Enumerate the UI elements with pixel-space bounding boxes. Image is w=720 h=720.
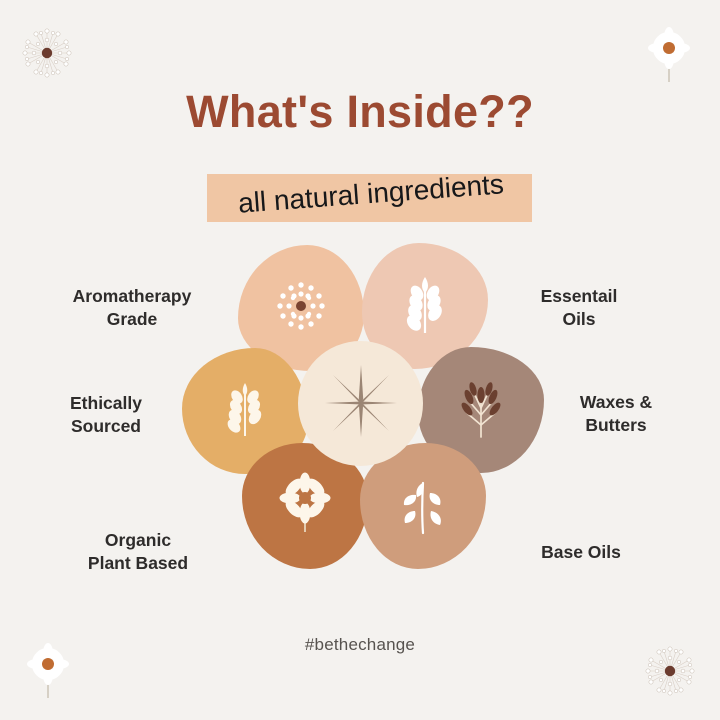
- daisy-flower-icon: [276, 472, 334, 541]
- page-title: What's Inside??: [0, 86, 720, 138]
- subtitle-banner: all natural ingredients: [207, 174, 532, 222]
- flower-diagram: [180, 243, 540, 573]
- wheat-sprig-icon: [399, 273, 451, 340]
- lavender-sprig-icon: [453, 375, 509, 446]
- dandelion-seedhead-icon: [274, 279, 328, 338]
- hashtag-text: #bethechange: [0, 635, 720, 655]
- label-ethically-sourced: Ethically Sourced: [20, 392, 192, 438]
- fern-leaf-icon: [221, 379, 269, 444]
- infographic-canvas: What's Inside?? all natural ingredients: [0, 0, 720, 720]
- label-aromatherapy-grade: Aromatherapy Grade: [36, 285, 228, 331]
- white-daisy-icon: [641, 24, 697, 91]
- label-organic-plant-based: Organic Plant Based: [40, 529, 236, 575]
- leafy-branch-icon: [396, 471, 450, 542]
- flower-center[interactable]: [298, 341, 423, 466]
- label-essentail-oils: Essentail Oils: [498, 285, 660, 331]
- sparkle-starburst-icon: [319, 359, 403, 448]
- label-waxes-and-butters: Waxes & Butters: [536, 391, 696, 437]
- label-base-oils: Base Oils: [500, 541, 662, 564]
- dandelion-burst-icon: [17, 23, 77, 88]
